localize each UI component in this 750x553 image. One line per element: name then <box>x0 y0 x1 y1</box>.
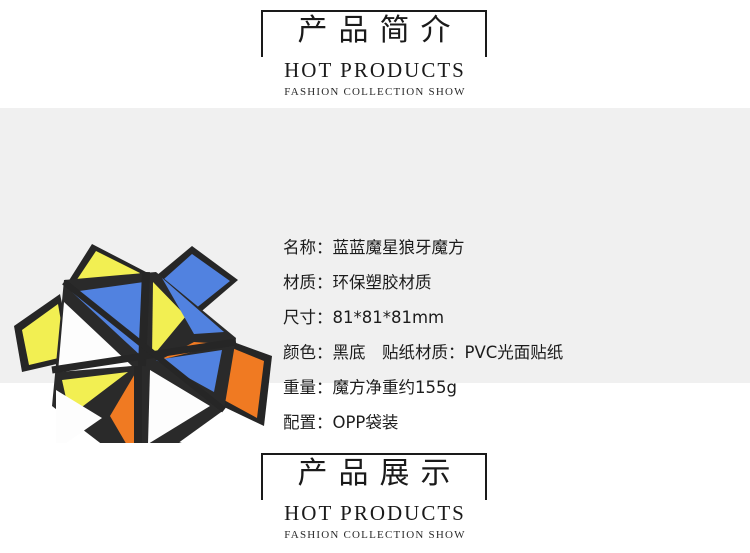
spec-label: 重量： <box>283 378 333 397</box>
banner-title-cn: 产品简介 <box>261 12 487 50</box>
banner-title-en: HOT PRODUCTS <box>261 57 489 83</box>
spec-label: 名称： <box>283 238 333 257</box>
banner-title-cn: 产品展示 <box>261 455 487 493</box>
spec-value: 蓝蓝魔星狼牙魔方 <box>333 238 465 257</box>
banner-inner: 产品简介 HOT PRODUCTS FASHION COLLECTION SHO… <box>261 0 489 108</box>
spec-label: 颜色： <box>283 343 333 362</box>
banner-subtitle: FASHION COLLECTION SHOW <box>261 528 489 542</box>
spec-row: 重量：魔方净重约155g <box>283 370 750 405</box>
banner-subtitle: FASHION COLLECTION SHOW <box>261 85 489 99</box>
spec-label: 配置： <box>283 413 333 432</box>
banner-title-en: HOT PRODUCTS <box>261 500 489 526</box>
spec-row: 配置：OPP袋装 <box>283 405 750 440</box>
spec-value: 81*81*81mm <box>333 308 445 327</box>
banner-product-intro: 产品简介 HOT PRODUCTS FASHION COLLECTION SHO… <box>0 0 750 108</box>
spec-row: 尺寸：81*81*81mm <box>283 300 750 335</box>
spec-value: 黑底 贴纸材质：PVC光面贴纸 <box>333 343 564 362</box>
spec-label: 尺寸： <box>283 308 333 327</box>
product-info-panel: 名称：蓝蓝魔星狼牙魔方 材质：环保塑胶材质 尺寸：81*81*81mm 颜色：黑… <box>0 108 750 383</box>
banner-product-showcase: 产品展示 HOT PRODUCTS FASHION COLLECTION SHO… <box>0 443 750 553</box>
spec-row: 材质：环保塑胶材质 <box>283 265 750 300</box>
spec-list: 名称：蓝蓝魔星狼牙魔方 材质：环保塑胶材质 尺寸：81*81*81mm 颜色：黑… <box>283 230 750 475</box>
spec-row: 颜色：黑底 贴纸材质：PVC光面贴纸 <box>283 335 750 370</box>
spec-value: 魔方净重约155g <box>333 378 457 397</box>
spec-label: 材质： <box>283 273 333 292</box>
spec-value: 环保塑胶材质 <box>333 273 432 292</box>
banner-inner: 产品展示 HOT PRODUCTS FASHION COLLECTION SHO… <box>261 443 489 553</box>
spec-row: 名称：蓝蓝魔星狼牙魔方 <box>283 230 750 265</box>
spec-value: OPP袋装 <box>333 413 399 432</box>
